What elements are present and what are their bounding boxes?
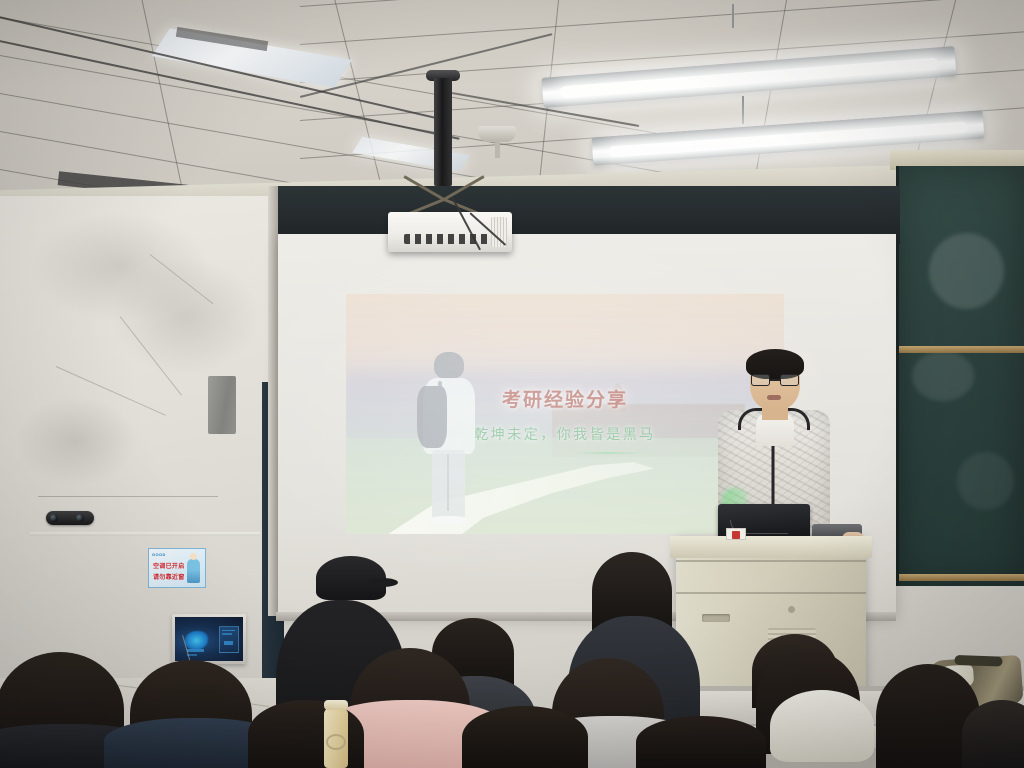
podium-card-slot	[702, 614, 730, 622]
white-cap	[770, 690, 874, 762]
podium-lock-icon[interactable]	[788, 606, 795, 613]
wall-display-screen	[175, 617, 243, 661]
audience-member-front-4	[462, 706, 588, 768]
projector-mount-pole	[434, 78, 452, 186]
poster-line-1: 空调已开启	[153, 561, 185, 570]
poster-header: GOOD	[152, 552, 166, 557]
glasses-icon	[751, 374, 799, 386]
podium-top-surface	[670, 536, 872, 558]
wall-trim	[30, 532, 260, 536]
podium-sticker	[726, 528, 746, 540]
chalk-rail-bottom	[899, 574, 1024, 581]
wall-poster: GOOD 空调已开启 请勿靠近窗	[148, 548, 206, 588]
fluorescent-fixture-upper	[541, 46, 956, 108]
poster-line-2: 请勿靠近窗	[153, 572, 185, 581]
classroom-scene: GOOD 空调已开启 请勿靠近窗	[0, 0, 1024, 768]
slide-underline	[574, 452, 644, 454]
audience-member-front-5	[636, 716, 766, 768]
chalkboard	[896, 166, 1024, 586]
chalk-rail-middle	[899, 346, 1024, 353]
projector-mount-bracket	[396, 183, 492, 213]
poster-figure-icon	[187, 559, 200, 583]
wall-junction-box	[208, 376, 236, 434]
water-bottle[interactable]	[324, 708, 348, 768]
security-camera-icon	[46, 511, 94, 525]
screen-left-frame	[268, 186, 278, 616]
ceiling-speaker	[478, 126, 516, 142]
